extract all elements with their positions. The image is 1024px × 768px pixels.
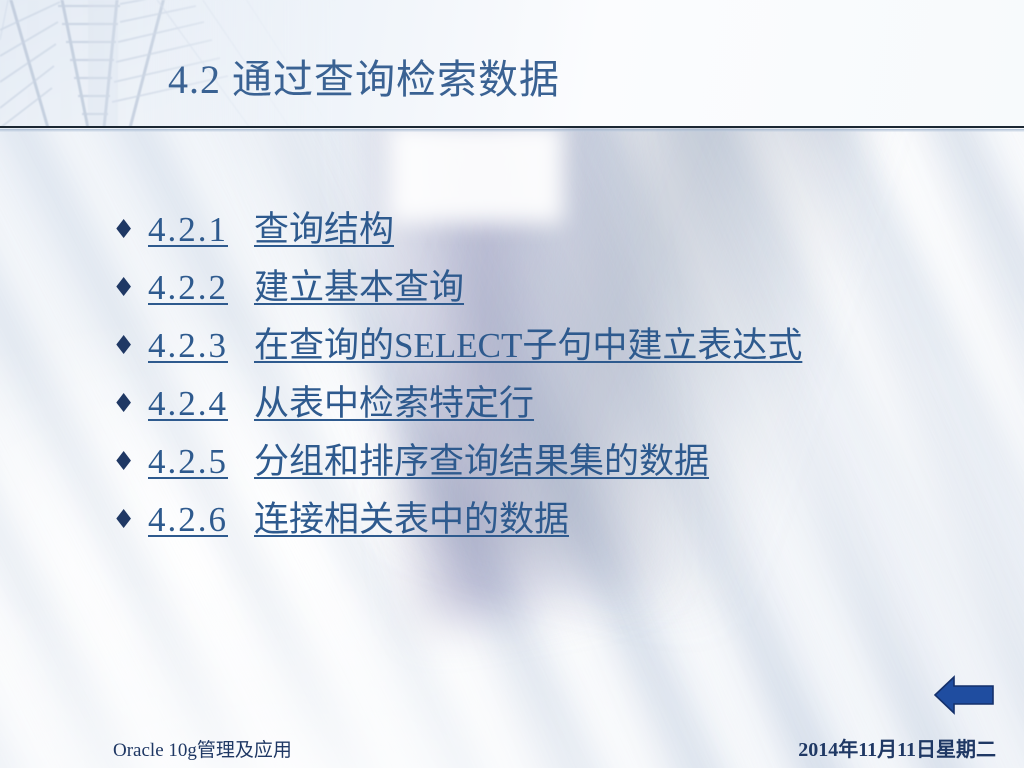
agenda-label-4: 从表中检索特定行 xyxy=(254,384,534,423)
agenda-link-6[interactable]: 4.2.6连接相关表中的数据 xyxy=(148,496,924,543)
back-arrow-button[interactable] xyxy=(934,674,994,716)
list-item[interactable]: ♦ 4.2.3在查询的SELECT子句中建立表达式 xyxy=(112,322,924,370)
diamond-bullet-icon: ♦ xyxy=(112,438,148,486)
agenda-number-5: 4.2.5 xyxy=(148,442,228,481)
diamond-bullet-icon: ♦ xyxy=(112,206,148,254)
agenda-label-5: 分组和排序查询结果集的数据 xyxy=(254,442,709,481)
arrow-left-icon xyxy=(935,677,993,713)
page-title: 4.2 通过查询检索数据 xyxy=(168,58,560,102)
agenda-link-4[interactable]: 4.2.4从表中检索特定行 xyxy=(148,380,924,427)
agenda-label-3: 在查询的SELECT子句中建立表达式 xyxy=(254,326,802,365)
diamond-bullet-icon: ♦ xyxy=(112,264,148,312)
list-item[interactable]: ♦ 4.2.1查询结构 xyxy=(112,206,924,254)
header-divider-highlight xyxy=(0,129,1024,132)
list-item[interactable]: ♦ 4.2.2建立基本查询 xyxy=(112,264,924,312)
agenda-link-3[interactable]: 4.2.3在查询的SELECT子句中建立表达式 xyxy=(148,322,924,369)
agenda-number-3: 4.2.3 xyxy=(148,326,228,365)
agenda-link-2[interactable]: 4.2.2建立基本查询 xyxy=(148,264,924,311)
agenda-number-6: 4.2.6 xyxy=(148,500,228,539)
footer-date: 2014年11月11日星期二 xyxy=(798,733,996,762)
agenda-link-1[interactable]: 4.2.1查询结构 xyxy=(148,206,924,253)
agenda-link-5[interactable]: 4.2.5分组和排序查询结果集的数据 xyxy=(148,438,924,485)
footer-left-text: Oracle 10g管理及应用 xyxy=(113,735,292,762)
diamond-bullet-icon: ♦ xyxy=(112,496,148,544)
slide-canvas: 4.2 通过查询检索数据 ♦ 4.2.1查询结构 ♦ 4.2.2建立基本查询 ♦… xyxy=(0,0,1024,768)
header-divider xyxy=(0,126,1024,128)
list-item[interactable]: ♦ 4.2.6连接相关表中的数据 xyxy=(112,496,924,544)
agenda-number-2: 4.2.2 xyxy=(148,268,228,307)
list-item[interactable]: ♦ 4.2.5分组和排序查询结果集的数据 xyxy=(112,438,924,486)
agenda-label-6: 连接相关表中的数据 xyxy=(254,500,569,539)
agenda-number-4: 4.2.4 xyxy=(148,384,228,423)
diamond-bullet-icon: ♦ xyxy=(112,322,148,370)
list-item[interactable]: ♦ 4.2.4从表中检索特定行 xyxy=(112,380,924,428)
diamond-bullet-icon: ♦ xyxy=(112,380,148,428)
agenda-list: ♦ 4.2.1查询结构 ♦ 4.2.2建立基本查询 ♦ 4.2.3在查询的SEL… xyxy=(112,206,924,554)
agenda-label-1: 查询结构 xyxy=(254,210,394,249)
agenda-number-1: 4.2.1 xyxy=(148,210,228,249)
agenda-label-2: 建立基本查询 xyxy=(254,268,464,307)
